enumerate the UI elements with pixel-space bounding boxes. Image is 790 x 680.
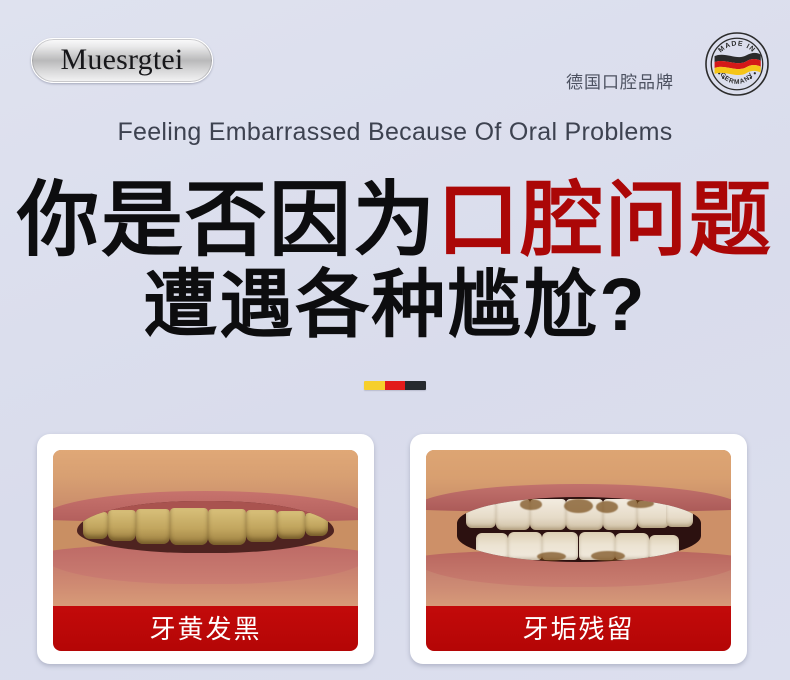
- page-subtitle: Feeling Embarrassed Because Of Oral Prob…: [0, 117, 790, 147]
- headline-line-1-black: 你是否因为: [17, 175, 437, 266]
- german-flag-bar-icon: [364, 381, 426, 390]
- card-label-text: 牙垢残留: [522, 616, 634, 642]
- brand-logo-badge: Muesrgtei: [31, 38, 213, 83]
- photo-mouth-cavity: [457, 497, 701, 563]
- card-label-band: 牙垢残留: [426, 606, 731, 651]
- flag-stripe-red: [385, 381, 406, 390]
- problem-card[interactable]: 牙黄发黑: [37, 434, 374, 664]
- card-label-band: 牙黄发黑: [53, 606, 358, 651]
- problem-card[interactable]: 牙垢残留: [410, 434, 747, 664]
- page-headline: 你是否因为口腔问题 遭遇各种尴尬?: [0, 176, 790, 346]
- flag-stripe-black: [405, 381, 426, 390]
- headline-line-1-red: 口腔问题: [437, 175, 773, 266]
- headline-line-2: 遭遇各种尴尬?: [0, 264, 790, 346]
- headline-line-1: 你是否因为口腔问题: [0, 176, 790, 266]
- tartar-residue-teeth-photo: [426, 450, 731, 606]
- brand-logo-label: Muesrgtei: [61, 45, 184, 77]
- card-label-text: 牙黄发黑: [149, 616, 261, 642]
- problem-cards: 牙黄发黑: [37, 434, 747, 664]
- brand-tagline: 德国口腔品牌: [566, 68, 674, 93]
- photo-mouth-cavity: [77, 501, 333, 552]
- yellow-blackened-teeth-photo: [53, 450, 358, 606]
- flag-stripe-yellow: [364, 381, 385, 390]
- made-in-germany-seal-icon: MADE IN GERMANY: [704, 31, 770, 97]
- page-header: Muesrgtei 德国口腔品牌 MADE IN GERMANY: [0, 0, 790, 108]
